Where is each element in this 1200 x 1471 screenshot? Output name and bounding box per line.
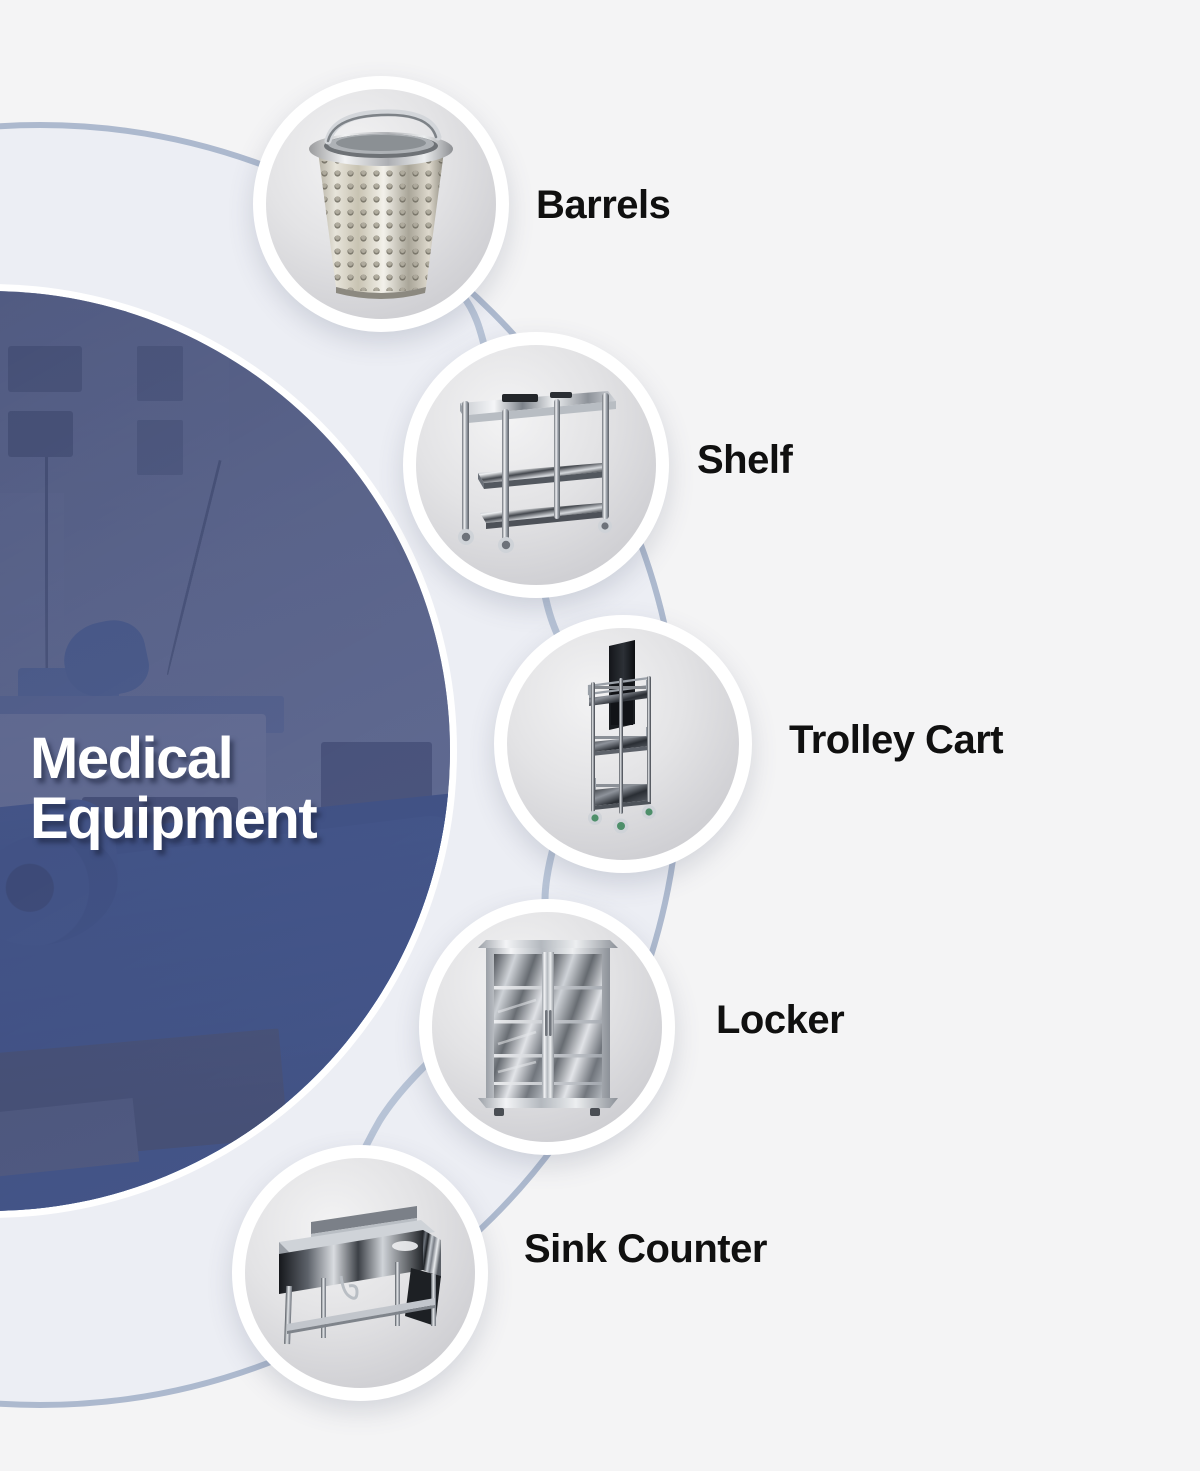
infographic-canvas: Medical Equipment bbox=[0, 0, 1200, 1471]
product-image-sink-counter bbox=[245, 1158, 475, 1388]
title-line-1: Medical bbox=[30, 729, 316, 789]
product-bubble-sink-counter[interactable] bbox=[232, 1145, 488, 1401]
product-label-barrels: Barrels bbox=[536, 183, 670, 228]
locker-illustration bbox=[432, 912, 662, 1142]
product-image-locker bbox=[432, 912, 662, 1142]
sink-counter-illustration bbox=[245, 1158, 475, 1388]
product-bubble-trolley-cart[interactable] bbox=[494, 615, 752, 873]
shelf-illustration bbox=[416, 345, 656, 585]
product-label-shelf: Shelf bbox=[697, 438, 792, 483]
page-title: Medical Equipment bbox=[30, 729, 316, 850]
product-label-locker: Locker bbox=[716, 998, 844, 1043]
trolley-cart-illustration bbox=[507, 628, 739, 860]
product-bubble-barrels[interactable] bbox=[253, 76, 509, 332]
product-image-shelf bbox=[416, 345, 656, 585]
product-image-trolley-cart bbox=[507, 628, 739, 860]
title-line-2: Equipment bbox=[30, 789, 316, 849]
product-label-trolley-cart: Trolley Cart bbox=[789, 718, 1003, 763]
product-label-sink-counter: Sink Counter bbox=[524, 1227, 767, 1272]
product-bubble-shelf[interactable] bbox=[403, 332, 669, 598]
product-bubble-locker[interactable] bbox=[419, 899, 675, 1155]
product-image-barrels bbox=[266, 89, 496, 319]
barrel-illustration bbox=[266, 89, 496, 319]
